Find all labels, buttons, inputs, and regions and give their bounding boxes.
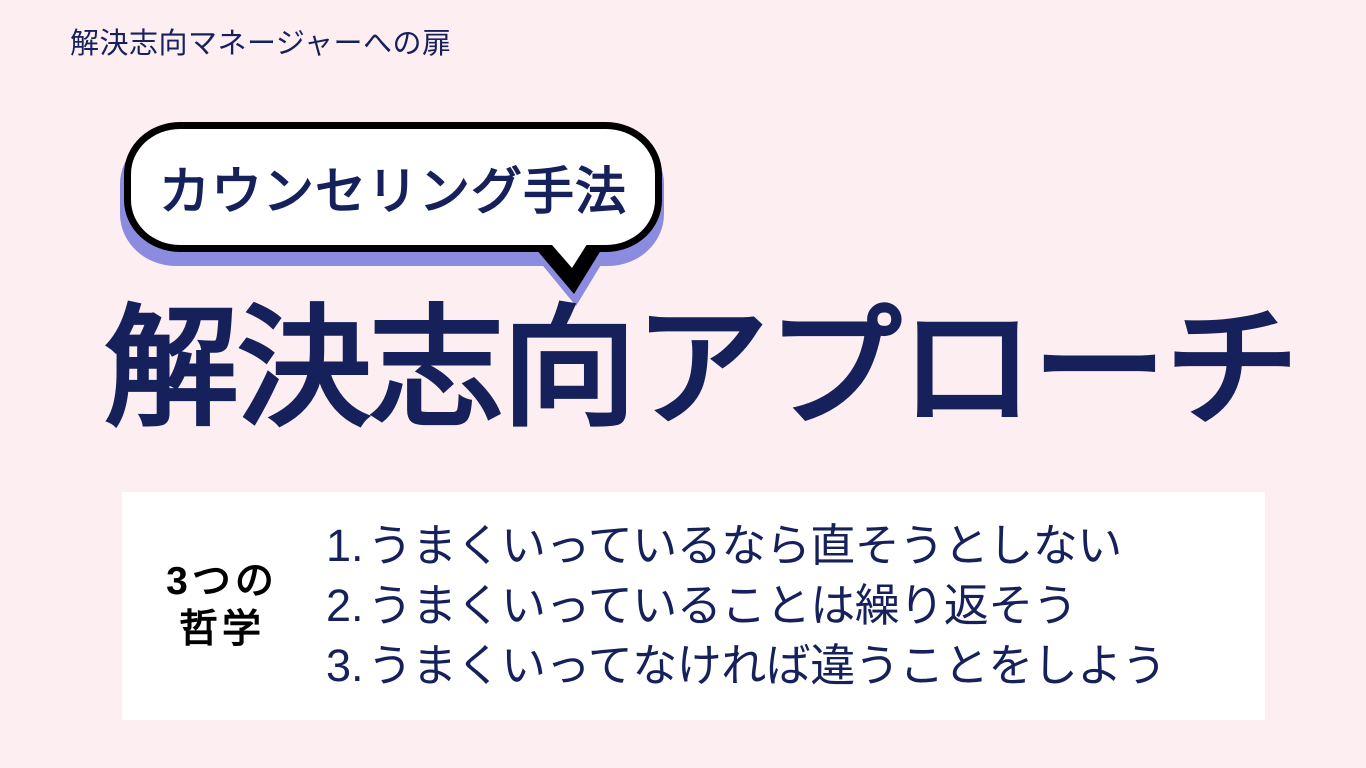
kicker-text: 解決志向マネージャーへの扉 bbox=[70, 26, 451, 62]
list-item-number: 1. bbox=[326, 516, 368, 576]
list-item-text: うまくいっていることは繰り返そう bbox=[368, 576, 1078, 636]
list-item-text: うまくいってなければ違うことをしよう bbox=[368, 636, 1167, 696]
philosophy-label-line1: 3つの bbox=[122, 558, 322, 606]
philosophy-panel-label: 3つの 哲学 bbox=[122, 558, 322, 653]
page-title: 解決志向アプローチ bbox=[104, 296, 1308, 441]
philosophy-label-line2: 哲学 bbox=[122, 606, 322, 654]
philosophy-panel: 3つの 哲学 1. うまくいっているなら直そうとしない 2. うまくいっているこ… bbox=[122, 492, 1265, 720]
list-item: 1. うまくいっているなら直そうとしない bbox=[326, 516, 1255, 576]
philosophy-list: 1. うまくいっているなら直そうとしない 2. うまくいっていることは繰り返そう… bbox=[322, 516, 1265, 697]
slide-canvas: 解決志向マネージャーへの扉 カウンセリング手法 解決志向アプローチ 3つの 哲学… bbox=[0, 0, 1366, 768]
list-item-text: うまくいっているなら直そうとしない bbox=[368, 516, 1122, 576]
speech-bubble-label: カウンセリング手法 bbox=[124, 122, 662, 252]
list-item: 2. うまくいっていることは繰り返そう bbox=[326, 576, 1255, 636]
list-item-number: 3. bbox=[326, 636, 368, 696]
speech-bubble: カウンセリング手法 bbox=[118, 118, 678, 308]
list-item: 3. うまくいってなければ違うことをしよう bbox=[326, 636, 1255, 696]
list-item-number: 2. bbox=[326, 576, 368, 636]
